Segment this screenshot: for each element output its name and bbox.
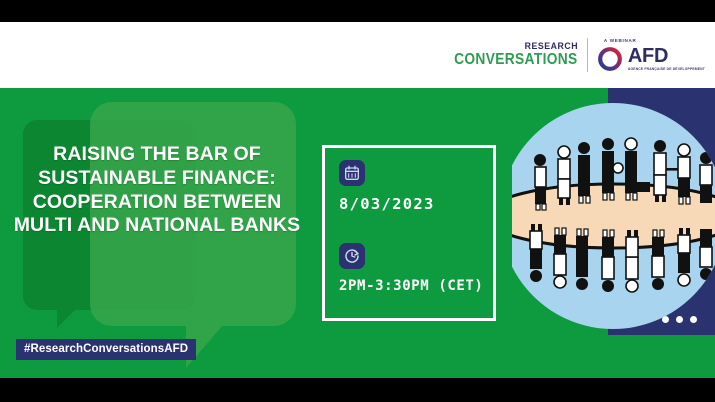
afd-name: AFD [628, 46, 705, 66]
calendar-icon [339, 160, 365, 186]
roundtable-svg [512, 102, 715, 330]
event-time-row: 2PM-3:30PM (CET) [339, 243, 485, 294]
event-time: 2PM-3:30PM (CET) [339, 278, 485, 294]
webinar-poster: RESEARCH CONVERSATIONS A WEBINAR [0, 0, 715, 402]
poster-stage: RAISING THE BAR OF SUSTAINABLE FINANCE: … [0, 88, 715, 378]
afd-tagline: AGENCE FRANÇAISE DE DÉVELOPPEMENT [628, 68, 705, 71]
afd-logo-row: AFD AGENCE FRANÇAISE DE DÉVELOPPEMENT [596, 45, 705, 73]
conversations-label: CONVERSATIONS [454, 52, 577, 68]
hashtag-badge: #ResearchConversationsAFD [16, 339, 196, 360]
research-conversations-logo: RESEARCH CONVERSATIONS [434, 42, 587, 69]
brand-divider [587, 38, 588, 72]
research-label: RESEARCH [524, 42, 577, 52]
roundtable-people-illustration [512, 102, 715, 330]
afd-logo: A WEBINAR AFD [596, 38, 707, 73]
event-info-inner: 8/03/2023 2PM-3:30PM (CET) [339, 160, 485, 308]
calendar-glyph [344, 165, 360, 181]
header-band: RESEARCH CONVERSATIONS A WEBINAR [0, 22, 715, 88]
event-date: 8/03/2023 [339, 195, 485, 213]
poster-title: RAISING THE BAR OF SUSTAINABLE FINANCE: … [12, 143, 302, 238]
clock-glyph [344, 248, 360, 264]
event-date-row: 8/03/2023 [339, 160, 485, 213]
afd-ring-icon [596, 45, 624, 73]
webinar-label: A WEBINAR [604, 38, 637, 43]
afd-text-block: AFD AGENCE FRANÇAISE DE DÉVELOPPEMENT [628, 46, 705, 71]
clock-icon [339, 243, 365, 269]
brand-cluster: RESEARCH CONVERSATIONS A WEBINAR [434, 28, 707, 82]
event-info-box: 8/03/2023 2PM-3:30PM (CET) [322, 145, 496, 321]
